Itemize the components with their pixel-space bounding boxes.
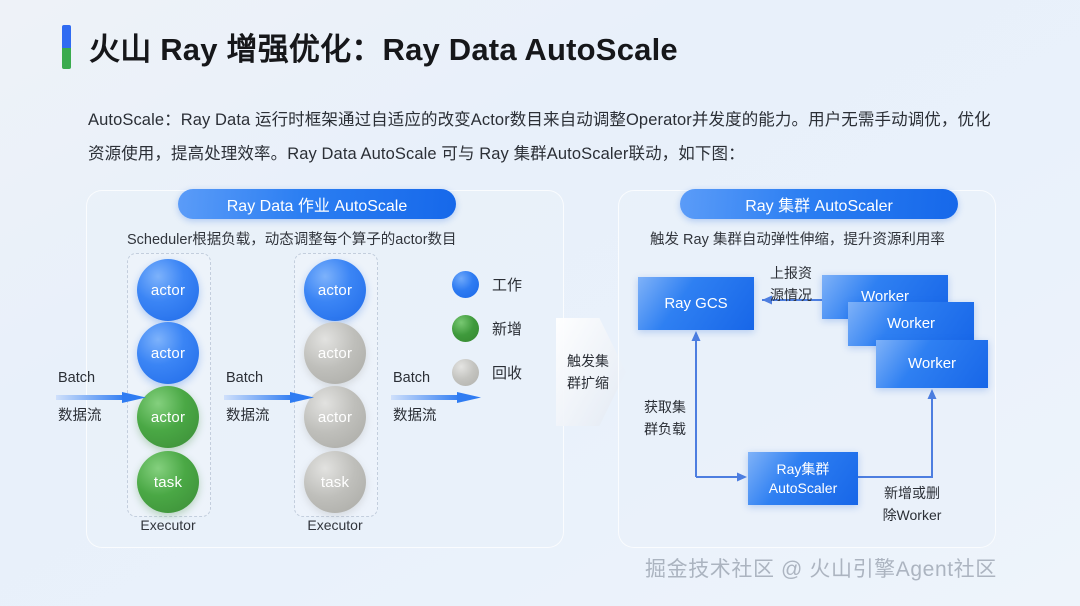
label-fetch-cluster-load: 获取集 群负载 — [638, 396, 692, 441]
node-task: task — [137, 451, 199, 513]
report-line1: 上报资 — [760, 262, 822, 284]
flow-bottom-label: 数据流 — [393, 404, 487, 425]
mid-connector-line2: 群扩缩 — [557, 373, 619, 395]
box-worker-3: Worker — [876, 340, 988, 388]
flow-top-label: Batch — [393, 370, 487, 386]
legend-dot-blue-icon — [452, 271, 479, 298]
report-line2: 源情况 — [760, 284, 822, 306]
worker-op-line2: 除Worker — [876, 504, 948, 526]
title-text: 火山 Ray 增强优化：Ray Data AutoScale — [89, 24, 678, 69]
legend-label: 回收 — [492, 362, 522, 383]
mid-connector-line1: 触发集 — [557, 351, 619, 373]
mid-connector-label: 触发集 群扩缩 — [557, 351, 619, 394]
legend-item-working: 工作 — [452, 262, 522, 306]
node-task: task — [304, 451, 366, 513]
legend-item-new: 新增 — [452, 306, 522, 350]
label-add-remove-worker: 新增或删 除Worker — [876, 482, 948, 527]
watermark: 掘金技术社区 @ 火山引擎Agent社区 — [645, 553, 997, 583]
legend-label: 新增 — [492, 318, 522, 339]
node-actor: actor — [304, 259, 366, 321]
flow-bottom-label: 数据流 — [226, 404, 320, 425]
load-line2: 群负载 — [638, 418, 692, 440]
batch-flow-3: Batch 数据流 — [391, 370, 487, 425]
intro-paragraph: AutoScale：Ray Data 运行时框架通过自适应的改变Actor数目来… — [88, 104, 998, 172]
right-panel-title-pill: Ray 集群 AutoScaler — [680, 189, 958, 219]
worker-op-line1: 新增或删 — [876, 482, 948, 504]
right-panel-caption: 触发 Ray 集群自动弹性伸缩，提升资源利用率 — [650, 228, 945, 249]
executor-label: Executor — [127, 517, 209, 533]
arrow-right-icon — [391, 392, 481, 403]
page-title: 火山 Ray 增强优化：Ray Data AutoScale — [62, 24, 678, 69]
flow-top-label: Batch — [58, 370, 152, 386]
label-report-resources: 上报资 源情况 — [760, 262, 822, 307]
legend-label: 工作 — [492, 274, 522, 295]
autoscaler-line1: Ray集群 — [769, 460, 837, 478]
box-ray-cluster-autoscaler: Ray集群 AutoScaler — [748, 452, 858, 505]
flow-top-label: Batch — [226, 370, 320, 386]
left-panel-title-pill: Ray Data 作业 AutoScale — [178, 189, 456, 219]
load-line1: 获取集 — [638, 396, 692, 418]
slide-root: 火山 Ray 增强优化：Ray Data AutoScale AutoScale… — [0, 0, 1080, 606]
node-actor: actor — [137, 259, 199, 321]
legend-dot-green-icon — [452, 315, 479, 342]
flow-bottom-label: 数据流 — [58, 404, 152, 425]
arrow-right-icon — [224, 392, 314, 403]
batch-flow-2: Batch 数据流 — [224, 370, 320, 425]
autoscaler-line2: AutoScaler — [769, 479, 837, 497]
executor-label: Executor — [294, 517, 376, 533]
left-panel-caption: Scheduler根据负载，动态调整每个算子的actor数目 — [127, 228, 457, 249]
accent-bar-icon — [62, 25, 71, 69]
arrow-right-icon — [56, 392, 146, 403]
batch-flow-1: Batch 数据流 — [56, 370, 152, 425]
box-ray-gcs: Ray GCS — [638, 277, 754, 330]
